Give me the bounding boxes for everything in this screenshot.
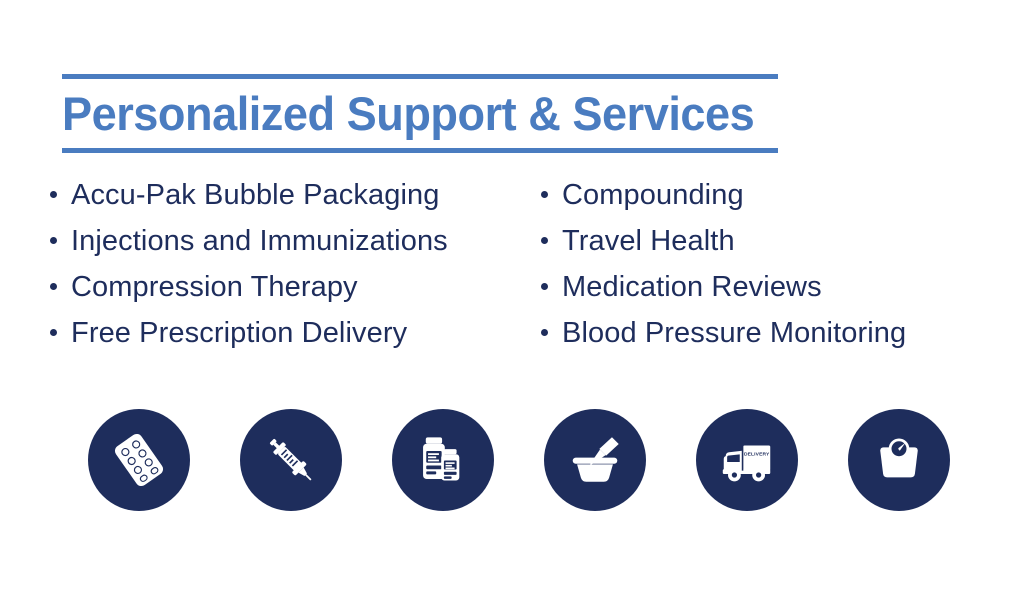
icon-badge-mortar-pestle — [544, 409, 646, 511]
service-label: Accu-Pak Bubble Packaging — [71, 178, 439, 212]
list-item: Accu-Pak Bubble Packaging — [50, 178, 530, 224]
service-label: Compression Therapy — [71, 270, 358, 304]
pill-bottles-icon — [414, 431, 472, 489]
icon-badge-syringe — [240, 409, 342, 511]
bullet-dot-icon — [541, 237, 548, 244]
list-item: Compression Therapy — [50, 270, 530, 316]
weight-scale-icon — [869, 430, 929, 490]
list-item: Injections and Immunizations — [50, 224, 530, 270]
header-block: Personalized Support & Services — [62, 74, 778, 153]
list-item: Travel Health — [541, 224, 1011, 270]
list-item: Medication Reviews — [541, 270, 1011, 316]
delivery-truck-label: DELIVERY — [744, 451, 770, 457]
list-item: Blood Pressure Monitoring — [541, 316, 1011, 362]
icon-badge-weight-scale — [848, 409, 950, 511]
service-label: Injections and Immunizations — [71, 224, 448, 258]
bullet-dot-icon — [50, 237, 57, 244]
icon-badge-delivery-truck: DELIVERY — [696, 409, 798, 511]
bullet-dot-icon — [50, 191, 57, 198]
bullet-dot-icon — [50, 283, 57, 290]
service-label: Blood Pressure Monitoring — [562, 316, 906, 350]
bullet-dot-icon — [50, 329, 57, 336]
page-title: Personalized Support & Services — [62, 79, 749, 148]
service-label: Travel Health — [562, 224, 735, 258]
service-label: Free Prescription Delivery — [71, 316, 407, 350]
poster-canvas: Personalized Support & Services Accu-Pak… — [0, 0, 1025, 590]
services-lists: Accu-Pak Bubble Packaging Injections and… — [0, 178, 1025, 362]
mortar-pestle-icon — [564, 429, 626, 491]
bullet-dot-icon — [541, 329, 548, 336]
syringe-icon — [260, 429, 322, 491]
blister-pack-icon — [108, 429, 170, 491]
icon-badge-pill-bottles — [392, 409, 494, 511]
service-label: Medication Reviews — [562, 270, 822, 304]
bullet-dot-icon — [541, 191, 548, 198]
services-column-right: Compounding Travel Health Medication Rev… — [541, 178, 1011, 362]
service-icon-row: DELIVERY — [0, 409, 1025, 511]
delivery-truck-icon: DELIVERY — [716, 429, 778, 491]
bullet-dot-icon — [541, 283, 548, 290]
services-column-left: Accu-Pak Bubble Packaging Injections and… — [50, 178, 530, 362]
list-item: Compounding — [541, 178, 1011, 224]
header-rule-bottom — [62, 148, 778, 153]
service-label: Compounding — [562, 178, 744, 212]
list-item: Free Prescription Delivery — [50, 316, 530, 362]
icon-badge-blister-pack — [88, 409, 190, 511]
